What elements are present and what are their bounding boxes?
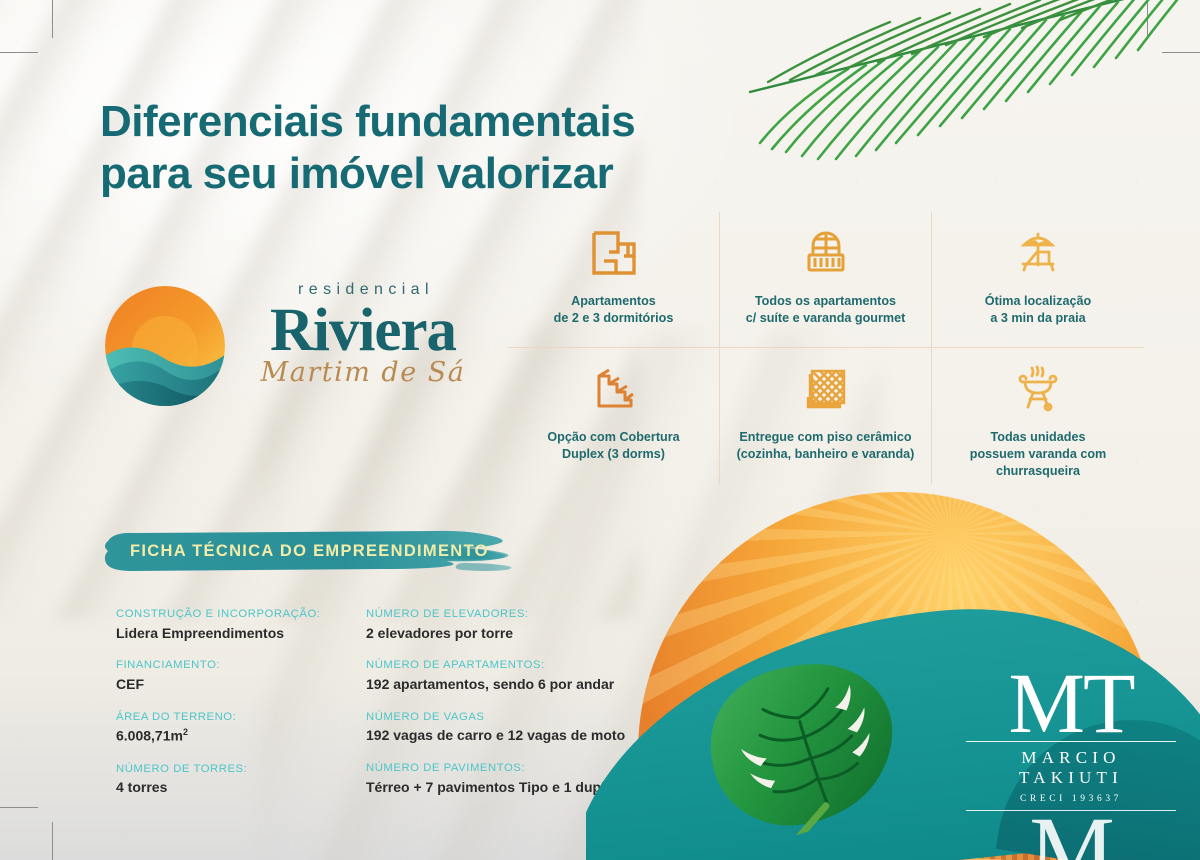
- feature-label: Apartamentos de 2 e 3 dormitórios: [554, 293, 674, 327]
- floorplan-icon: [587, 226, 641, 280]
- spec-item: NÚMERO DE TORRES: 4 torres: [116, 763, 366, 796]
- watermark-name: MARCIO TAKIUTI: [966, 748, 1176, 788]
- spec-item: ÁREA DO TERRENO: 6.008,71m2: [116, 711, 366, 745]
- watermark-monogram: MT: [966, 668, 1176, 739]
- spec-label: ÁREA DO TERRENO:: [116, 711, 366, 725]
- spec-label: NÚMERO DE PAVIMENTOS:: [366, 762, 676, 776]
- crop-mark-bottom-left-h: [0, 807, 38, 808]
- specs-column-right: NÚMERO DE ELEVADORES: 2 elevadores por t…: [366, 608, 676, 814]
- bbq-grill-icon: [1011, 362, 1065, 416]
- crop-mark-bottom-right-h: [1162, 807, 1200, 808]
- project-logo: residencial Riviera Martim de Sá: [104, 282, 484, 414]
- beach-sand: [638, 856, 1158, 860]
- teal-wave-shape-secondary: [996, 701, 1200, 860]
- spec-label: FINANCIAMENTO:: [116, 659, 366, 673]
- technical-specs: CONSTRUÇÃO E INCORPORAÇÃO: Lidera Empree…: [116, 608, 676, 814]
- monstera-leaf-icon: [685, 632, 934, 853]
- sunset-sky: [638, 492, 1158, 860]
- marketing-flyer: Diferenciais fundamentais para seu imóve…: [0, 0, 1200, 860]
- spec-item: CONSTRUÇÃO E INCORPORAÇÃO: Lidera Empree…: [116, 608, 366, 641]
- spec-value: 2 elevadores por torre: [366, 625, 676, 642]
- features-grid: Apartamentos de 2 e 3 dormitórios Todos …: [508, 212, 1144, 484]
- spec-section-banner: FICHA TÉCNICA DO EMPREENDIMENTO: [100, 525, 540, 581]
- feature-label: Todas unidades possuem varanda com churr…: [970, 429, 1106, 480]
- beach-chair-icon: [1011, 226, 1065, 280]
- spec-item: FINANCIAMENTO: CEF: [116, 659, 366, 692]
- crop-mark-top-right-h: [1162, 52, 1200, 53]
- headline-line-2: para seu imóvel valorizar: [100, 148, 760, 200]
- crop-mark-bottom-right-v: [1147, 822, 1148, 860]
- spec-item: NÚMERO DE PAVIMENTOS: Térreo + 7 pavimen…: [366, 762, 676, 795]
- specs-column-left: CONSTRUÇÃO E INCORPORAÇÃO: Lidera Empree…: [116, 608, 366, 814]
- broker-watermark: MT MARCIO TAKIUTI CRECI 193637 M: [966, 668, 1176, 860]
- spec-label: NÚMERO DE APARTAMENTOS:: [366, 659, 676, 673]
- logo-script: Martim de Sá: [240, 357, 486, 388]
- headline-line-1: Diferenciais fundamentais: [100, 97, 635, 146]
- watermark-divider: [966, 741, 1176, 742]
- logo-eyebrow: residencial: [240, 282, 486, 298]
- spec-value: CEF: [116, 676, 366, 693]
- balcony-icon: [799, 226, 853, 280]
- spec-item: NÚMERO DE ELEVADORES: 2 elevadores por t…: [366, 608, 676, 641]
- watermark-divider-lower: [966, 810, 1176, 811]
- watermark-creci: CRECI 193637: [966, 794, 1176, 804]
- feature-label: Todos os apartamentos c/ suíte e varanda…: [746, 293, 906, 327]
- spec-label: NÚMERO DE ELEVADORES:: [366, 608, 676, 622]
- spec-value-superscript: 2: [183, 727, 188, 737]
- spec-value: 192 vagas de carro e 12 vagas de moto: [366, 727, 676, 744]
- feature-card-piso-ceramico: Entregue com piso cerâmico (cozinha, ban…: [720, 348, 932, 484]
- circular-photo-montage: [638, 492, 1158, 860]
- spec-value: 6.008,71m2: [116, 727, 366, 744]
- feature-label: Opção com Cobertura Duplex (3 dorms): [547, 429, 679, 463]
- logo-name: Riviera: [240, 302, 486, 361]
- spec-value: 192 apartamentos, sendo 6 por andar: [366, 676, 676, 693]
- sun-waves-icon: [104, 285, 226, 407]
- spec-label: CONSTRUÇÃO E INCORPORAÇÃO:: [116, 608, 366, 622]
- city-skyline: [638, 731, 1158, 860]
- feature-card-churrasqueira: Todas unidades possuem varanda com churr…: [932, 348, 1144, 484]
- feature-card-localizacao: Ótima localização a 3 min da praia: [932, 212, 1144, 348]
- palm-frond-decoration: [690, 0, 1200, 224]
- sun-rays: [638, 492, 1158, 860]
- stairs-icon: [587, 362, 641, 416]
- watermark-ghost-letter: M: [966, 813, 1176, 860]
- spec-label: NÚMERO DE TORRES:: [116, 763, 366, 777]
- logo-wordmark: residencial Riviera Martim de Sá: [240, 282, 486, 388]
- spec-item: NÚMERO DE APARTAMENTOS: 192 apartamentos…: [366, 659, 676, 692]
- spec-value: Lidera Empreendimentos: [116, 625, 366, 642]
- teal-wave-shape: [586, 581, 1200, 860]
- spec-value: 4 torres: [116, 779, 366, 796]
- floor-tiles-icon: [799, 362, 853, 416]
- banner-title: FICHA TÉCNICA DO EMPREENDIMENTO: [130, 542, 489, 561]
- feature-card-suite-varanda: Todos os apartamentos c/ suíte e varanda…: [720, 212, 932, 348]
- feature-label: Entregue com piso cerâmico (cozinha, ban…: [737, 429, 915, 463]
- spec-value: Térreo + 7 pavimentos Tipo e 1 duplex: [366, 779, 676, 796]
- feature-card-apartamentos: Apartamentos de 2 e 3 dormitórios: [508, 212, 720, 348]
- page-title: Diferenciais fundamentais para seu imóve…: [100, 96, 760, 200]
- mountain-silhouette: [638, 700, 1158, 860]
- feature-card-cobertura-duplex: Opção com Cobertura Duplex (3 dorms): [508, 348, 720, 484]
- spec-label: NÚMERO DE VAGAS: [366, 711, 676, 725]
- collage-artwork: MT MARCIO TAKIUTI CRECI 193637 M: [586, 478, 1200, 860]
- crop-mark-top-right-v: [1147, 0, 1148, 38]
- crop-mark-top-left-v: [52, 0, 53, 38]
- crop-mark-top-left-h: [0, 52, 38, 53]
- crop-mark-bottom-left-v: [52, 822, 53, 860]
- spec-item: NÚMERO DE VAGAS 192 vagas de carro e 12 …: [366, 711, 676, 744]
- feature-label: Ótima localização a 3 min da praia: [985, 293, 1091, 327]
